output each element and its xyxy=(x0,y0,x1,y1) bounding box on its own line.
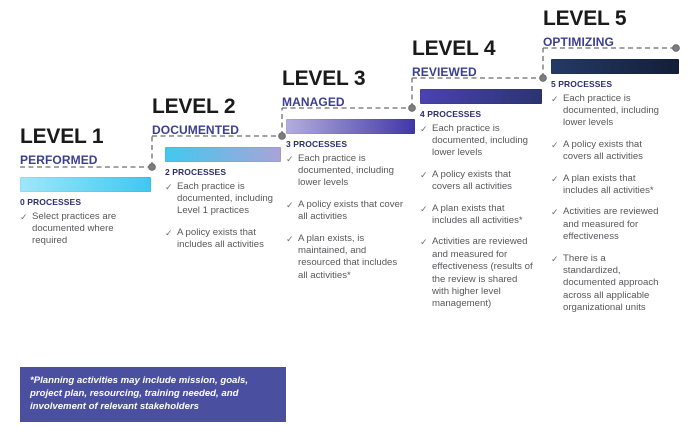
level-4-bullet-list: ✓ Each practice is documented, including… xyxy=(420,123,536,311)
level-4-bar xyxy=(420,89,542,104)
level-4-processes: 4 PROCESSES xyxy=(420,110,546,119)
list-item: ✓ Each practice is documented, including… xyxy=(551,93,661,130)
list-item: ✓ Each practice is documented, including… xyxy=(165,181,282,218)
check-icon: ✓ xyxy=(551,93,559,105)
level-1-bullet-list: ✓ Select practices are documented where … xyxy=(20,211,140,248)
check-icon: ✓ xyxy=(420,203,428,215)
list-item: ✓ Each practice is documented, including… xyxy=(420,123,536,160)
check-icon: ✓ xyxy=(20,211,28,223)
maturity-level-5: LEVEL 5 OPTIMIZING 5 PROCESSES ✓ Each pr… xyxy=(543,8,683,324)
bullet-text: Each practice is documented, including l… xyxy=(298,153,394,189)
level-2-bullet-list: ✓ Each practice is documented, including… xyxy=(165,181,282,252)
list-item: ✓ A policy exists that covers all activi… xyxy=(551,139,661,164)
check-icon: ✓ xyxy=(551,206,559,218)
bullet-text: A plan exists that includes all activiti… xyxy=(563,173,654,196)
level-2-processes: 2 PROCESSES xyxy=(165,168,284,177)
planning-activities-footnote: *Planning activities may include mission… xyxy=(20,367,286,422)
maturity-level-1: LEVEL 1 PERFORMED 0 PROCESSES ✓ Select p… xyxy=(20,126,152,257)
list-item: ✓ A policy exists that includes all acti… xyxy=(165,227,282,252)
bullet-text: Each practice is documented, including l… xyxy=(563,93,659,129)
level-4-title: LEVEL 4 xyxy=(412,38,546,59)
check-icon: ✓ xyxy=(286,199,294,211)
check-icon: ✓ xyxy=(551,253,559,265)
list-item: ✓ There is a standardized, documented ap… xyxy=(551,253,661,315)
level-4-subtitle: REVIEWED xyxy=(412,66,546,78)
maturity-level-2: LEVEL 2 DOCUMENTED 2 PROCESSES ✓ Each pr… xyxy=(152,96,284,261)
bullet-text: Activities are reviewed and measured for… xyxy=(563,206,658,242)
level-5-bullet-list: ✓ Each practice is documented, including… xyxy=(551,93,661,315)
bullet-text: A policy exists that covers all activiti… xyxy=(432,169,512,192)
level-3-title: LEVEL 3 xyxy=(282,68,416,89)
bullet-text: Each practice is documented, including L… xyxy=(177,181,273,217)
check-icon: ✓ xyxy=(420,123,428,135)
bullet-text: A policy exists that covers all activiti… xyxy=(563,139,643,162)
list-item: ✓ Each practice is documented, including… xyxy=(286,153,406,190)
bullet-text: A plan exists, is maintained, and resour… xyxy=(298,233,397,281)
check-icon: ✓ xyxy=(165,227,173,239)
list-item: ✓ Activities are reviewed and measured f… xyxy=(420,236,536,310)
list-item: ✓ A policy exists that covers all activi… xyxy=(420,169,536,194)
maturity-level-3: LEVEL 3 MANAGED 3 PROCESSES ✓ Each pract… xyxy=(282,68,416,291)
level-1-bar xyxy=(20,177,151,192)
bullet-text: A policy exists that cover all activitie… xyxy=(298,199,403,222)
check-icon: ✓ xyxy=(286,233,294,245)
check-icon: ✓ xyxy=(420,169,428,181)
list-item: ✓ Select practices are documented where … xyxy=(20,211,140,248)
maturity-staircase-diagram: LEVEL 1 PERFORMED 0 PROCESSES ✓ Select p… xyxy=(0,0,700,447)
list-item: ✓ Activities are reviewed and measured f… xyxy=(551,206,661,243)
list-item: ✓ A plan exists that includes all activi… xyxy=(551,173,661,198)
bullet-text: A plan exists that includes all activiti… xyxy=(432,203,523,226)
bullet-text: There is a standardized, documented appr… xyxy=(563,253,658,314)
level-1-title: LEVEL 1 xyxy=(20,126,152,147)
level-3-bar xyxy=(286,119,415,134)
check-icon: ✓ xyxy=(165,181,173,193)
check-icon: ✓ xyxy=(420,236,428,248)
bullet-text: Activities are reviewed and measured for… xyxy=(432,236,533,309)
level-3-processes: 3 PROCESSES xyxy=(286,140,416,149)
level-5-processes: 5 PROCESSES xyxy=(551,80,683,89)
check-icon: ✓ xyxy=(286,153,294,165)
level-5-title: LEVEL 5 xyxy=(543,8,683,29)
level-2-bar xyxy=(165,147,281,162)
level-1-processes: 0 PROCESSES xyxy=(20,198,152,207)
list-item: ✓ A plan exists, is maintained, and reso… xyxy=(286,233,406,283)
list-item: ✓ A plan exists that includes all activi… xyxy=(420,203,536,228)
level-3-bullet-list: ✓ Each practice is documented, including… xyxy=(286,153,406,283)
level-2-subtitle: DOCUMENTED xyxy=(152,124,284,136)
level-1-subtitle: PERFORMED xyxy=(20,154,152,166)
bullet-text: A policy exists that includes all activi… xyxy=(177,227,264,250)
check-icon: ✓ xyxy=(551,139,559,151)
bullet-text: Select practices are documented where re… xyxy=(32,211,116,247)
level-3-subtitle: MANAGED xyxy=(282,96,416,108)
maturity-level-4: LEVEL 4 REVIEWED 4 PROCESSES ✓ Each prac… xyxy=(412,38,546,320)
level-2-title: LEVEL 2 xyxy=(152,96,284,117)
level-5-bar xyxy=(551,59,679,74)
check-icon: ✓ xyxy=(551,173,559,185)
level-5-subtitle: OPTIMIZING xyxy=(543,36,683,48)
bullet-text: Each practice is documented, including l… xyxy=(432,123,528,159)
list-item: ✓ A policy exists that cover all activit… xyxy=(286,199,406,224)
